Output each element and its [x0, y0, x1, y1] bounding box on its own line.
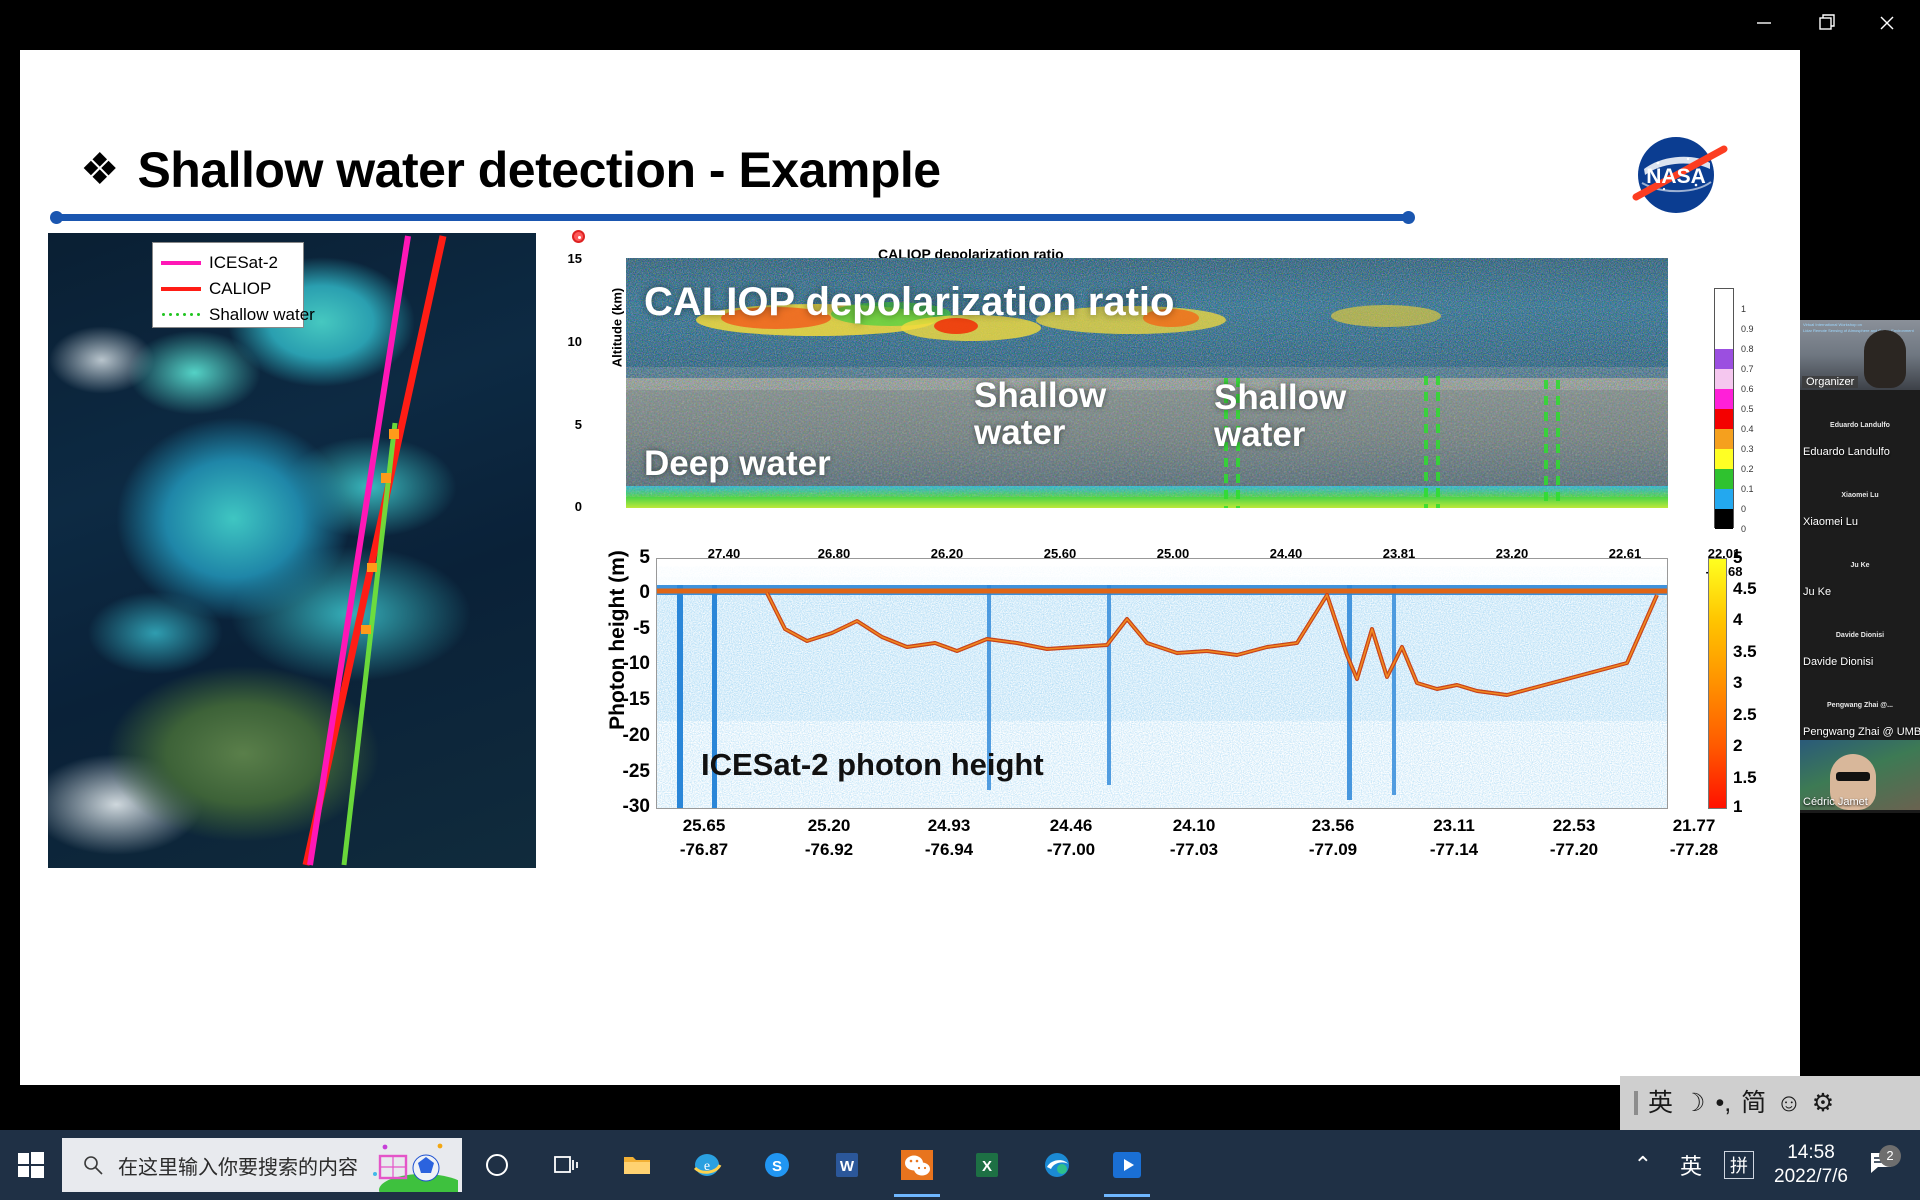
- notification-badge: 2: [1879, 1145, 1901, 1167]
- caliop-colorbar: 1 0.9 0.8 0.7 0.6 0.5 0.4 0.3 0.2 0.1 0 …: [1714, 288, 1734, 528]
- participant-tile-eduardo-landulfo[interactable]: Eduardo Landulfo Eduardo Landulfo: [1800, 390, 1920, 460]
- ime-emoji-icon[interactable]: ☺: [1776, 1091, 1802, 1116]
- svg-text:e: e: [704, 1159, 710, 1174]
- system-tray: ⌃ 英 拼 14:58 2022/7/6 2: [1620, 1130, 1920, 1200]
- legend-swatch-shallow-water: [161, 311, 201, 319]
- nasa-logo: NASA: [1622, 125, 1742, 225]
- ime-punctuation-icon[interactable]: •,: [1715, 1091, 1731, 1116]
- legend-item-caliop: CALIOP: [161, 276, 295, 302]
- legend-swatch-icesat2: [161, 261, 201, 265]
- task-view-button[interactable]: [532, 1130, 602, 1200]
- icesat2-xtick: 24.10-77.03: [1170, 816, 1218, 860]
- participant-tile-cedric-jamet[interactable]: Cédric Jamet: [1800, 740, 1920, 810]
- participant-center-name: Xiaomei Lu: [1841, 492, 1878, 499]
- edge-icon: [1042, 1151, 1072, 1179]
- caliop-cb-tick: 0.5: [1741, 404, 1754, 414]
- tray-chevron-icon[interactable]: ⌃: [1620, 1152, 1666, 1178]
- icesat2-xtick: 24.46-77.00: [1047, 816, 1095, 860]
- caliop-y-axis-label: Altitude (km): [610, 263, 625, 393]
- figure-panel: CALIOP depolarization ratio Altitude (km…: [548, 228, 1768, 873]
- start-button[interactable]: [0, 1130, 62, 1200]
- excel-button[interactable]: X: [952, 1130, 1022, 1200]
- icesat2-cb-tick: 4.5: [1733, 579, 1757, 599]
- participant-center-name: Pengwang Zhai @...: [1827, 702, 1893, 709]
- legend-label-caliop: CALIOP: [209, 279, 271, 299]
- icesat2-track: [310, 236, 408, 865]
- tray-ime-mode[interactable]: 拼: [1724, 1151, 1754, 1179]
- clock-time: 14:58: [1774, 1141, 1848, 1165]
- caliop-cb-tick: 0.3: [1741, 444, 1754, 454]
- icesat2-x-axis: 25.65-76.87 25.20-76.92 24.93-76.94 24.4…: [694, 816, 1706, 862]
- label-shallow-water-1: Shallow water: [974, 378, 1106, 452]
- legend-item-icesat2: ICESat-2: [161, 250, 295, 276]
- participant-name-pengwang-zhai: Pengwang Zhai @ UMBC: [1803, 726, 1920, 738]
- icesat2-cb-tick: 4: [1733, 610, 1742, 630]
- icesat2-ytick: -5: [598, 618, 650, 640]
- participant-center-name: Ju Ke: [1850, 562, 1869, 569]
- participant-name-davide-dionisi: Davide Dionisi: [1803, 656, 1873, 668]
- caliop-ytick: 0: [552, 499, 582, 514]
- caliop-cb-tick: 0.1: [1741, 484, 1754, 494]
- caliop-ytick: 10: [552, 334, 582, 349]
- icesat2-cb-tick: 1: [1733, 797, 1742, 817]
- restore-button[interactable]: [1797, 0, 1857, 46]
- icesat2-xtick: 25.20-76.92: [805, 816, 853, 860]
- participant-center-name: Eduardo Landulfo: [1830, 422, 1890, 429]
- icesat2-plot-area: ICESat-2 photon height: [656, 558, 1668, 809]
- presentation-slide: ❖ Shallow water detection - Example NASA: [20, 50, 1800, 1085]
- avatar: [1864, 330, 1906, 388]
- edge-button[interactable]: [1022, 1130, 1092, 1200]
- taskbar-clock[interactable]: 14:58 2022/7/6: [1762, 1141, 1860, 1189]
- cortana-button[interactable]: [462, 1130, 532, 1200]
- title-bullet-icon: ❖: [80, 148, 119, 192]
- caliop-cb-tick: 1: [1741, 304, 1746, 314]
- ime-drag-handle[interactable]: [1634, 1091, 1638, 1115]
- icesat2-xtick: 21.77-77.28: [1670, 816, 1718, 860]
- word-icon: W: [834, 1151, 860, 1179]
- icesat2-ytick: -25: [598, 761, 650, 783]
- icesat2-ytick: 0: [598, 582, 650, 604]
- legend-item-shallow-water: Shallow water: [161, 302, 295, 328]
- icesat2-xtick: 23.56-77.09: [1309, 816, 1357, 860]
- participant-tile-xiaomei-lu[interactable]: Xiaomei Lu Xiaomei Lu: [1800, 460, 1920, 530]
- participant-name-eduardo-landulfo: Eduardo Landulfo: [1803, 446, 1890, 458]
- internet-explorer-button[interactable]: e: [672, 1130, 742, 1200]
- caliop-ytick: 5: [552, 417, 582, 432]
- label-deep-water: Deep water: [644, 444, 831, 484]
- windows-start-icon: [17, 1151, 45, 1179]
- svg-text:W: W: [840, 1158, 855, 1175]
- icesat2-cb-tick: 2.5: [1733, 705, 1757, 725]
- icesat2-photon-height-chart: Photon height (m) 5 0 -5 -10 -15 -20 -25…: [586, 558, 1668, 818]
- legend-label-shallow-water: Shallow water: [209, 305, 315, 325]
- windows-taskbar: 在这里输入你要搜索的内容: [0, 1130, 1920, 1200]
- participant-tile-davide-dionisi[interactable]: Davide Dionisi Davide Dionisi: [1800, 600, 1920, 670]
- icesat2-ytick: -20: [598, 725, 650, 747]
- page-title: Shallow water detection - Example: [137, 141, 940, 199]
- label-shallow-water-2: Shallow water: [1214, 380, 1346, 454]
- icesat2-overlay-title: ICESat-2 photon height: [701, 747, 1044, 783]
- ime-gear-icon[interactable]: ⚙: [1812, 1091, 1834, 1116]
- participant-strip: Virtual International Workshop onLidar R…: [1800, 320, 1920, 813]
- word-button[interactable]: W: [812, 1130, 882, 1200]
- caliop-cb-tick: 0.2: [1741, 464, 1754, 474]
- participant-name-cedric-jamet: Cédric Jamet: [1803, 796, 1868, 808]
- icesat2-xtick: 23.11-77.14: [1430, 816, 1478, 860]
- participant-center-name: Davide Dionisi: [1836, 632, 1884, 639]
- close-button[interactable]: [1857, 0, 1917, 46]
- file-explorer-button[interactable]: [602, 1130, 672, 1200]
- icesat2-cb-tick: 2: [1733, 736, 1742, 756]
- icesat2-ytick: -30: [598, 796, 650, 818]
- participant-tile-pengwang-zhai[interactable]: Pengwang Zhai @... Pengwang Zhai @ UMBC: [1800, 670, 1920, 740]
- cortana-icon: [484, 1152, 510, 1178]
- caliop-ytick: 15: [552, 251, 582, 266]
- tray-ime-lang[interactable]: 英: [1666, 1149, 1716, 1181]
- ime-lang-toggle[interactable]: 英: [1648, 1091, 1673, 1116]
- caliop-cb-tick: 0.8: [1741, 344, 1754, 354]
- task-view-icon: [554, 1153, 580, 1177]
- ime-simplified-toggle[interactable]: 简: [1741, 1091, 1766, 1116]
- svg-text:X: X: [982, 1158, 992, 1175]
- title-divider: [55, 214, 1410, 221]
- notification-center-button[interactable]: 2: [1860, 1150, 1910, 1181]
- file-explorer-icon: [622, 1152, 652, 1178]
- icesat2-cb-tick: 1.5: [1733, 768, 1757, 788]
- search-icon: [82, 1154, 104, 1176]
- minimize-button[interactable]: [1734, 0, 1794, 46]
- icesat2-cb-tick: 3: [1733, 673, 1742, 693]
- caliop-cb-tick: 0.9: [1741, 324, 1754, 334]
- slide-title-row: ❖ Shallow water detection - Example: [80, 130, 1320, 210]
- recording-indicator-icon: [572, 230, 585, 243]
- icesat2-ytick: -10: [598, 653, 650, 675]
- icesat2-cb-tick: 3.5: [1733, 642, 1757, 662]
- map-track-overlay: [48, 233, 536, 868]
- taskbar-search-box[interactable]: 在这里输入你要搜索的内容: [62, 1138, 462, 1192]
- caliop-cb-tick: 0: [1741, 524, 1746, 534]
- map-legend: ICESat-2 CALIOP Shallow water: [152, 242, 304, 328]
- excel-icon: X: [974, 1151, 1000, 1179]
- skype-button[interactable]: S: [742, 1130, 812, 1200]
- media-player-button[interactable]: [1092, 1130, 1162, 1200]
- legend-label-icesat2: ICESat-2: [209, 253, 278, 273]
- ime-moon-icon[interactable]: ☽: [1683, 1091, 1705, 1116]
- participant-name-xiaomei-lu: Xiaomei Lu: [1803, 516, 1858, 528]
- window-titlebar: [0, 0, 1920, 46]
- icesat2-ytick: 5: [598, 547, 650, 569]
- internet-explorer-icon: e: [692, 1151, 722, 1179]
- icesat2-xtick: 24.93-76.94: [925, 816, 973, 860]
- svg-text:S: S: [772, 1158, 782, 1175]
- icesat2-cb-tick: 5: [1733, 548, 1742, 568]
- desktop-root: ❖ Shallow water detection - Example NASA: [0, 0, 1920, 1200]
- icesat2-xtick: 25.65-76.87: [680, 816, 728, 860]
- wechat-icon: [901, 1150, 933, 1180]
- caliop-plot-area: CALIOP depolarization ratio Deep water S…: [626, 258, 1668, 508]
- participant-tile-organizer[interactable]: Virtual International Workshop onLidar R…: [1800, 320, 1920, 390]
- media-player-icon: [1112, 1151, 1142, 1179]
- search-placeholder-text: 在这里输入你要搜索的内容: [118, 1151, 358, 1180]
- satellite-map-image: ICESat-2 CALIOP Shallow water: [48, 233, 536, 868]
- search-decoration-icon: [368, 1138, 458, 1192]
- clock-date: 2022/7/6: [1774, 1165, 1848, 1189]
- caliop-cb-tick: 0.6: [1741, 384, 1754, 394]
- caliop-cb-tick: 0.7: [1741, 364, 1754, 374]
- participant-name-organizer: Organizer: [1802, 376, 1858, 388]
- video-header-text: Virtual International Workshop onLidar R…: [1803, 322, 1914, 334]
- caliop-cb-tick: 0.4: [1741, 424, 1754, 434]
- icesat2-xtick: 22.53-77.20: [1550, 816, 1598, 860]
- participant-tile-ju-ke[interactable]: Ju Ke Ju Ke: [1800, 530, 1920, 600]
- caliop-cb-tick: 0: [1741, 504, 1746, 514]
- ime-floating-bar[interactable]: 英 ☽ •, 简 ☺ ⚙: [1620, 1076, 1920, 1130]
- icesat2-ytick: -15: [598, 689, 650, 711]
- legend-swatch-caliop: [161, 287, 201, 291]
- caliop-overlay-title: CALIOP depolarization ratio: [644, 280, 1174, 325]
- icesat2-colorbar: [1708, 558, 1727, 809]
- skype-icon: S: [763, 1151, 791, 1179]
- caliop-depolarization-chart: Altitude (km) 15 10 5 0: [586, 258, 1668, 508]
- wechat-button[interactable]: [882, 1130, 952, 1200]
- participant-name-ju-ke: Ju Ke: [1803, 586, 1831, 598]
